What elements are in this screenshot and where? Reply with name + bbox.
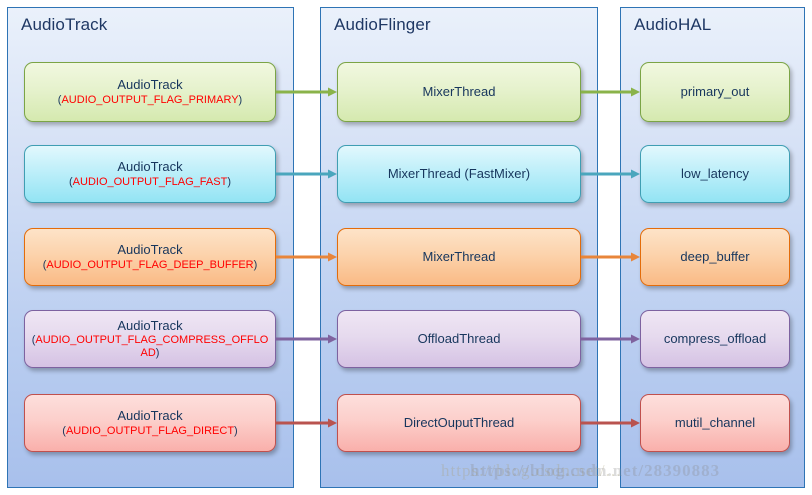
panel-title-audiotrack: AudioTrack (21, 15, 107, 35)
node-audiotrack-direct[interactable]: AudioTrack (AUDIO_OUTPUT_FLAG_DIRECT) (24, 394, 276, 452)
node-title: deep_buffer (680, 249, 749, 264)
node-compress-offload[interactable]: compress_offload (640, 310, 790, 368)
node-title: AudioTrack (117, 77, 182, 92)
arrow-compress-offload-track-to-thread (276, 334, 338, 344)
arrow-fast-thread-to-hal (581, 169, 641, 179)
node-mixerthread-fastmixer[interactable]: MixerThread (FastMixer) (337, 145, 581, 203)
node-deep-buffer[interactable]: deep_buffer (640, 228, 790, 286)
node-title: mutil_channel (675, 415, 755, 430)
node-audiotrack-deep-buffer[interactable]: AudioTrack (AUDIO_OUTPUT_FLAG_DEEP_BUFFE… (24, 228, 276, 286)
arrow-deep-buffer-track-to-thread (276, 252, 338, 262)
node-title: MixerThread (423, 249, 496, 264)
node-title: MixerThread (FastMixer) (388, 166, 530, 181)
node-audiotrack-compress-offload[interactable]: AudioTrack (AUDIO_OUTPUT_FLAG_COMPRESS_O… (24, 310, 276, 368)
arrow-primary-thread-to-hal (581, 87, 641, 97)
node-title: AudioTrack (117, 318, 182, 333)
node-title: AudioTrack (117, 159, 182, 174)
arrow-compress-offload-thread-to-hal (581, 334, 641, 344)
arrow-primary-track-to-thread (276, 87, 338, 97)
node-flag: (AUDIO_OUTPUT_FLAG_COMPRESS_OFFLOAD) (31, 334, 269, 360)
node-directouputthread[interactable]: DirectOuputThread (337, 394, 581, 452)
node-primary-out[interactable]: primary_out (640, 62, 790, 122)
arrow-direct-thread-to-hal (581, 418, 641, 428)
architecture-diagram: AudioTrack AudioFlinger AudioHAL AudioTr… (0, 0, 812, 495)
node-title: OffloadThread (418, 331, 501, 346)
node-title: primary_out (681, 84, 750, 99)
node-mutil-channel[interactable]: mutil_channel (640, 394, 790, 452)
node-title: AudioTrack (117, 408, 182, 423)
node-title: compress_offload (664, 331, 766, 346)
arrow-direct-track-to-thread (276, 418, 338, 428)
node-title: AudioTrack (117, 242, 182, 257)
node-title: DirectOuputThread (404, 415, 515, 430)
panel-title-audiohal: AudioHAL (634, 15, 711, 35)
arrow-fast-track-to-thread (276, 169, 338, 179)
node-title: low_latency (681, 166, 749, 181)
node-title: MixerThread (423, 84, 496, 99)
node-mixerthread-primary[interactable]: MixerThread (337, 62, 581, 122)
node-audiotrack-fast[interactable]: AudioTrack (AUDIO_OUTPUT_FLAG_FAST) (24, 145, 276, 203)
node-flag: (AUDIO_OUTPUT_FLAG_DIRECT) (62, 425, 237, 438)
node-flag: (AUDIO_OUTPUT_FLAG_FAST) (69, 176, 231, 189)
node-audiotrack-primary[interactable]: AudioTrack (AUDIO_OUTPUT_FLAG_PRIMARY) (24, 62, 276, 122)
panel-title-audioflinger: AudioFlinger (334, 15, 431, 35)
node-mixerthread-deep-buffer[interactable]: MixerThread (337, 228, 581, 286)
node-flag: (AUDIO_OUTPUT_FLAG_DEEP_BUFFER) (43, 259, 258, 272)
node-offloadthread[interactable]: OffloadThread (337, 310, 581, 368)
arrow-deep-buffer-thread-to-hal (581, 252, 641, 262)
node-low-latency[interactable]: low_latency (640, 145, 790, 203)
node-flag: (AUDIO_OUTPUT_FLAG_PRIMARY) (58, 94, 242, 107)
